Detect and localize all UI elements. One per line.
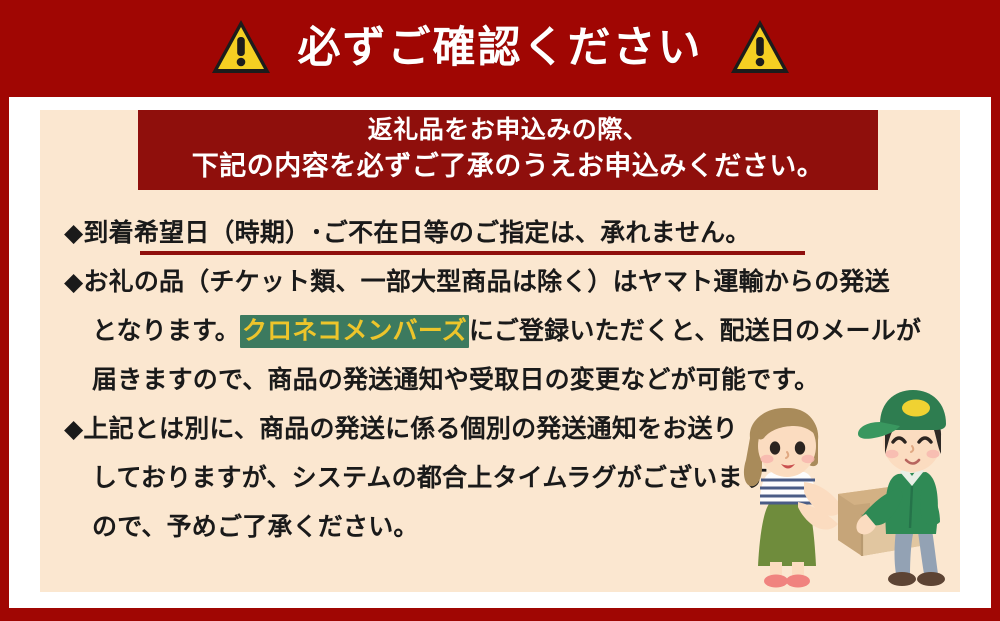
notice-item-3-text-line-1: ◆上記とは別に、商品の発送に係る個別の発送通知をお送り — [64, 414, 738, 443]
notice-item-3-line-2: しておりますが、システムの都合上タイムラグがございます — [64, 453, 960, 502]
notice-item-2-line-1: ◆お礼の品（チケット類、一部大型商品は除く）はヤマト運輸からの発送 — [64, 257, 960, 306]
notice-item-2-text-after: にご登録いただくと、配送日のメールが — [469, 316, 921, 345]
notice-list: ◆到着希望日（時期）･ご不在日等のご指定は、承れません。 ◆お礼の品（チケット類… — [64, 208, 960, 551]
notice-item-3-text-line-3: ので、予めご了承ください。 — [92, 512, 419, 541]
notice-item-2-line-3: 届きますので、商品の発送通知や受取日の変更などが可能です。 — [64, 355, 960, 404]
notice-item-3-line-3: ので、予めご了承ください。 — [64, 502, 960, 551]
notice-item-3-text-line-2: しておりますが、システムの都合上タイムラグがございます — [92, 463, 768, 492]
header-banner: 必ずご確認ください — [0, 0, 1000, 97]
warning-triangle-icon — [729, 18, 791, 80]
notice-page: 必ずご確認ください 返礼品をお申込みの際、 下記の内容を必ずご了承のうえお申込み… — [0, 0, 1000, 621]
notice-item-2-text-before: となります。 — [92, 316, 240, 345]
subtitle-line-2: 下記の内容を必ずご了承のうえお申込みください。 — [192, 148, 825, 186]
notice-item-2-text-line-1: ◆お礼の品（チケット類、一部大型商品は除く）はヤマト運輸からの発送 — [64, 267, 890, 296]
content-panel: 返礼品をお申込みの際、 下記の内容を必ずご了承のうえお申込みください。 ◆到着希… — [40, 110, 960, 592]
notice-item-1-underline — [140, 251, 805, 255]
notice-item-1-line-1: ◆到着希望日（時期）･ご不在日等のご指定は、承れません。 — [64, 208, 960, 257]
notice-item-3-line-1: ◆上記とは別に、商品の発送に係る個別の発送通知をお送り — [64, 404, 960, 453]
notice-item-2-text-line-3: 届きますので、商品の発送通知や受取日の変更などが可能です。 — [92, 365, 819, 394]
notice-item-2-line-2: となります。クロネコメンバーズにご登録いただくと、配送日のメールが — [64, 306, 960, 355]
page-title: 必ずご確認ください — [298, 27, 703, 70]
notice-item-1-text: ◆到着希望日（時期）･ご不在日等のご指定は、承れません。 — [64, 218, 751, 247]
subtitle-banner: 返礼品をお申込みの際、 下記の内容を必ずご了承のうえお申込みください。 — [138, 110, 878, 190]
subtitle-line-1: 返礼品をお申込みの際、 — [368, 112, 649, 148]
kuroneko-members-highlight: クロネコメンバーズ — [240, 315, 469, 348]
warning-triangle-icon — [210, 18, 272, 80]
